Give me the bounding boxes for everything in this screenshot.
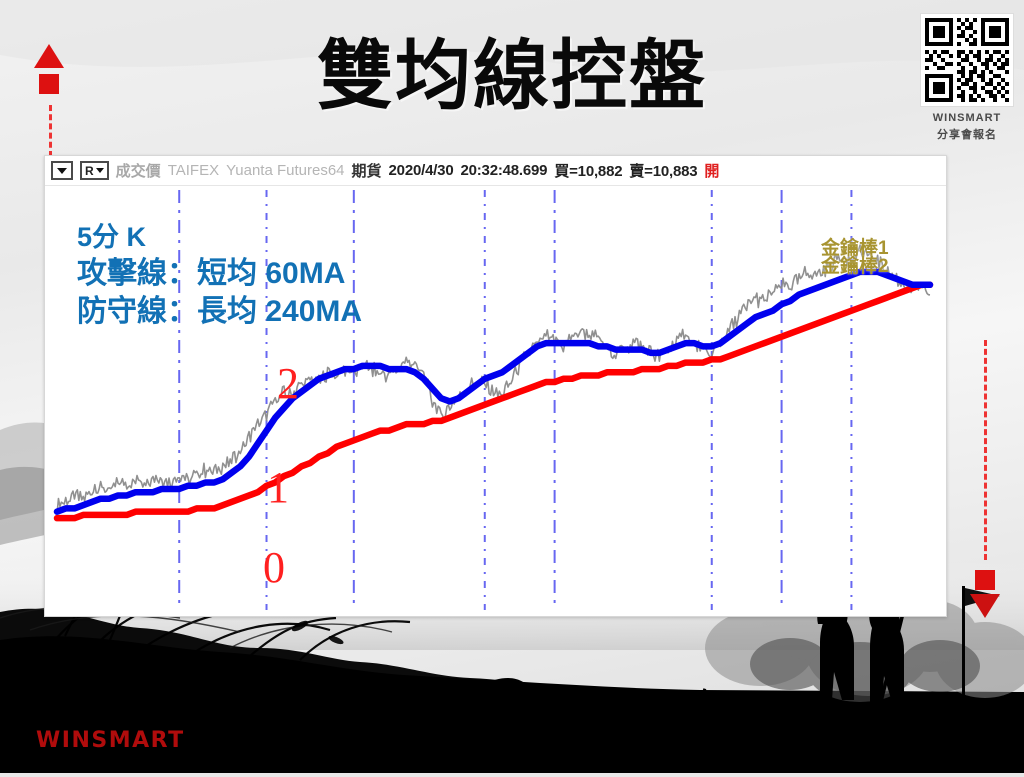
zone-label-2: 2 <box>277 358 299 409</box>
broker-label: Yuanta Futures64 <box>226 162 344 179</box>
page-title: 雙均線控盤 <box>0 28 1024 124</box>
status-badge: 開 <box>704 160 719 181</box>
bottom-rule <box>0 773 1024 777</box>
chart-plot-area[interactable]: 5分 K 攻擊線：短均 60MA 防守線：長均 240MA 2 1 0 金鑰棒1… <box>45 186 946 616</box>
marker-square-top <box>39 74 59 94</box>
footer-brand-logo: WINSMART <box>36 728 185 753</box>
zone-label-0: 0 <box>263 542 285 593</box>
qr-caption-sub: 分享會報名 <box>921 126 1013 142</box>
slide-root: 雙均線控盤 <box>0 0 1024 777</box>
ask-label: 賣=10,883 <box>629 160 697 181</box>
qr-caption-brand: WINSMART <box>921 112 1013 124</box>
chart-toolbar: R 成交價 TAIFEX Yuanta Futures64 期貨 2020/4/… <box>45 156 946 186</box>
marker-dashline-bottom <box>984 340 987 560</box>
exchange-label: TAIFEX <box>168 162 219 179</box>
price-type-label: 成交價 <box>116 160 161 181</box>
mode-dropdown-label: R <box>85 164 94 178</box>
annotation-line-3: 防守線：長均 240MA <box>77 293 362 331</box>
annotation-line-1: 5分 K <box>77 220 362 255</box>
annotation-line-2: 攻擊線：短均 60MA <box>77 255 362 293</box>
date-label: 2020/4/30 <box>389 162 454 179</box>
chevron-down-icon <box>57 168 67 174</box>
arrow-up-icon <box>34 44 64 68</box>
watermark-label-2: 金鑰棒2 <box>821 258 889 276</box>
qr-code-icon <box>921 14 1013 106</box>
mode-dropdown-button[interactable]: R <box>80 161 109 180</box>
marker-dashline-top <box>49 105 52 157</box>
product-label: 期貨 <box>352 160 382 181</box>
chevron-down-icon <box>96 168 104 173</box>
zone-label-1: 1 <box>267 462 289 513</box>
time-label: 20:32:48.699 <box>460 162 547 179</box>
chart-panel: R 成交價 TAIFEX Yuanta Futures64 期貨 2020/4/… <box>44 155 947 617</box>
marker-square-bottom <box>975 570 995 590</box>
qr-block: WINSMART 分享會報名 <box>921 14 1013 142</box>
dropdown-button[interactable] <box>51 161 73 180</box>
bid-label: 買=10,882 <box>554 160 622 181</box>
arrow-down-icon <box>970 594 1000 618</box>
strategy-annotation: 5分 K 攻擊線：短均 60MA 防守線：長均 240MA <box>77 220 362 331</box>
